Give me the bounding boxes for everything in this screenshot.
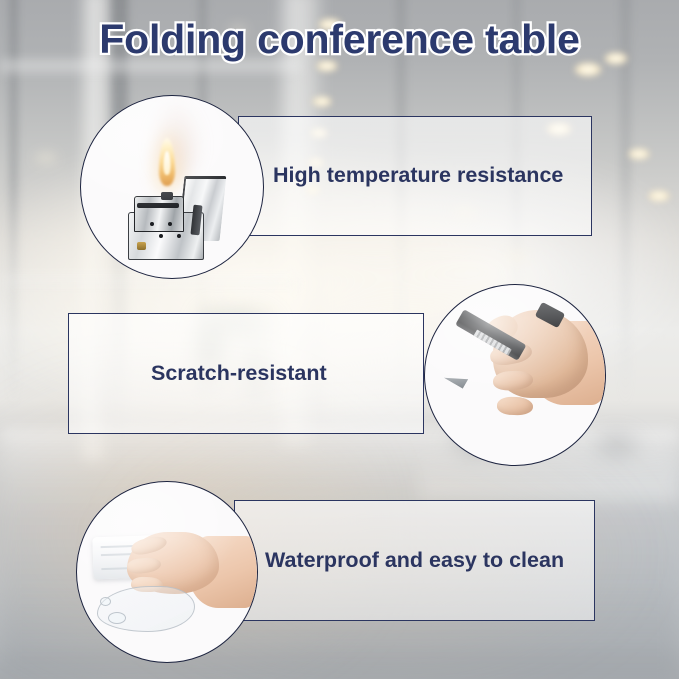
feature-label: Waterproof and easy to clean xyxy=(265,550,564,572)
ceiling-light xyxy=(574,62,602,77)
feature-image-lighter-flame xyxy=(80,95,264,279)
feature-image-box-cutter xyxy=(424,284,606,466)
product-feature-infographic: Folding conference table High temperatur… xyxy=(0,0,679,679)
finger xyxy=(497,396,534,415)
feature-text-box: Scratch-resistant xyxy=(68,313,424,434)
lighter-hole xyxy=(150,222,154,226)
feature-text-box: High temperature resistance xyxy=(238,116,592,236)
ceiling-light xyxy=(648,190,670,202)
ceiling-light xyxy=(34,152,58,164)
lighter-wick xyxy=(161,192,173,200)
feature-label: High temperature resistance xyxy=(273,165,563,187)
feature-image-cloth-wipe xyxy=(76,481,258,663)
box-cutter-blade xyxy=(444,368,469,389)
water-droplet xyxy=(108,612,126,624)
page-title: Folding conference table xyxy=(0,16,679,63)
ceiling-light xyxy=(628,148,650,160)
lighter-insert xyxy=(134,196,184,232)
flame-core xyxy=(163,151,170,175)
background-beam xyxy=(0,278,300,286)
background-beam xyxy=(0,62,300,72)
water-spill xyxy=(97,586,195,632)
ceiling-light xyxy=(312,96,332,107)
feature-text-box: Waterproof and easy to clean xyxy=(234,500,595,621)
feature-label: Scratch-resistant xyxy=(151,363,327,385)
ceiling-light xyxy=(506,250,528,262)
lighter-windguard xyxy=(137,203,179,208)
lighter-flint-wheel xyxy=(137,242,146,250)
